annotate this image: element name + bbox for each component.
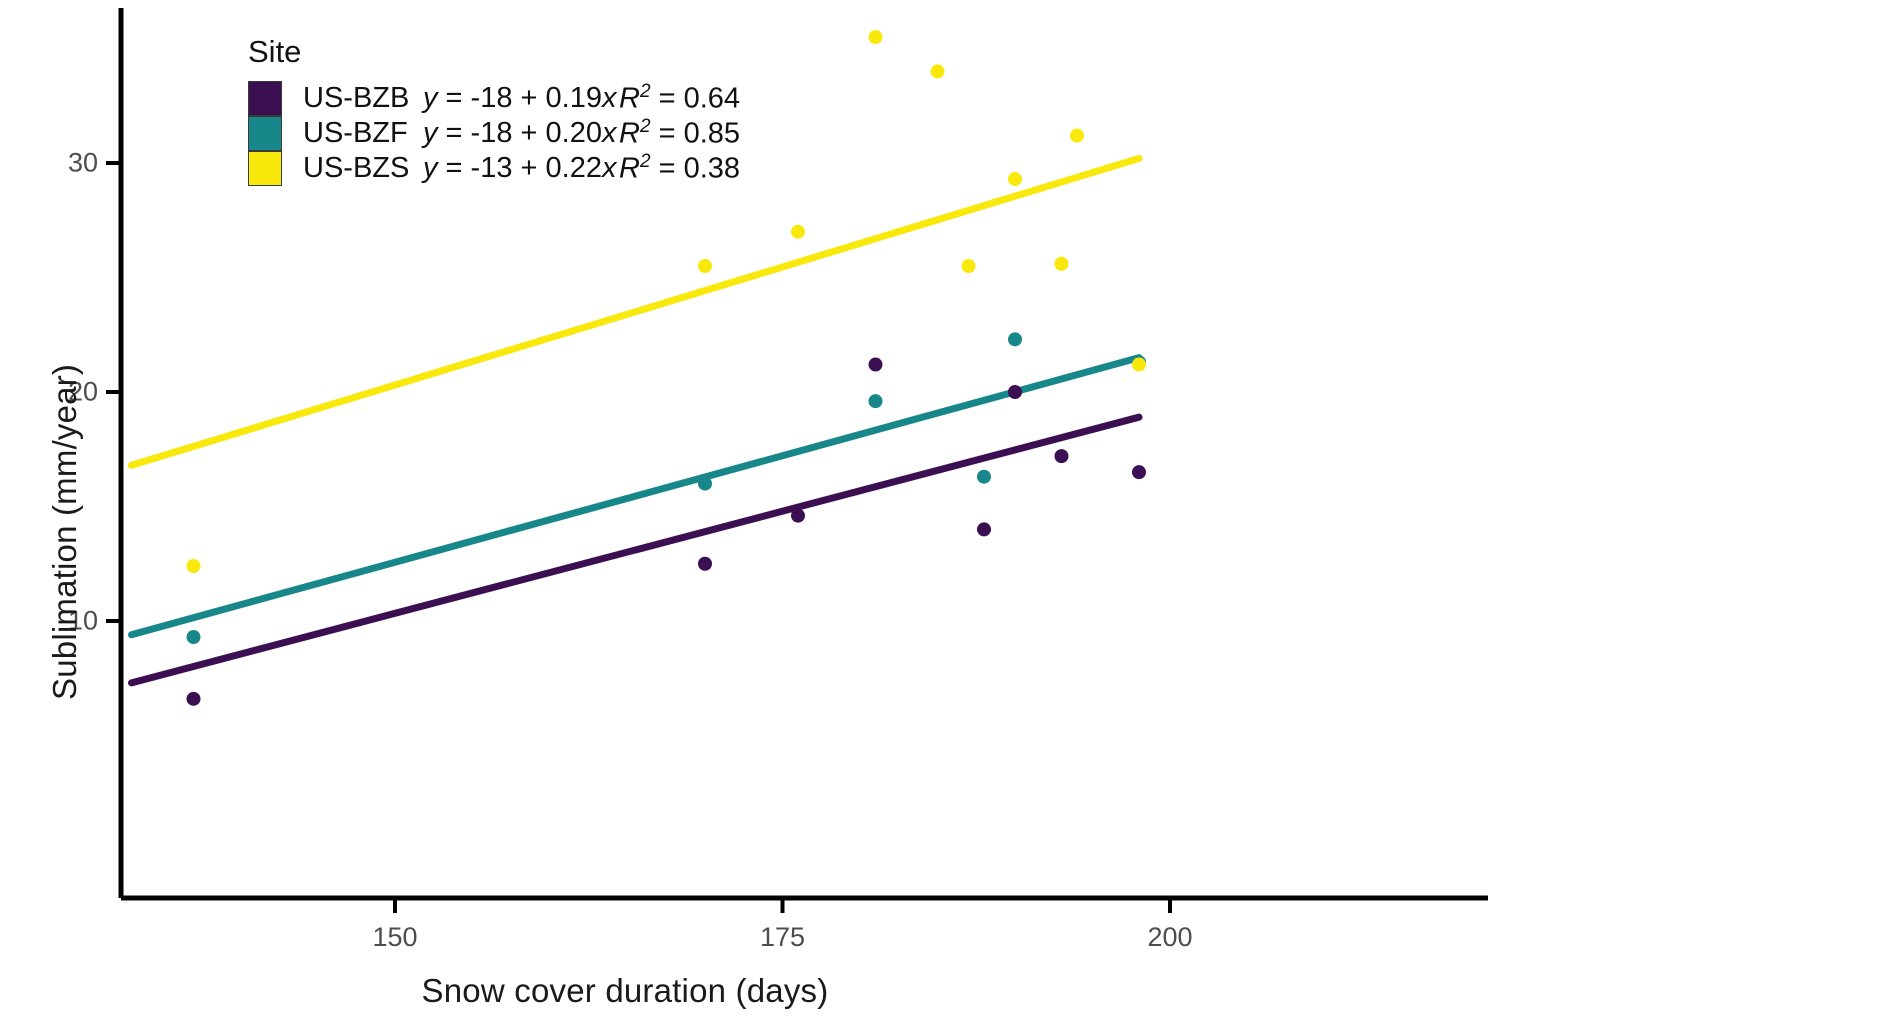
legend: Site US-BZBy = -18 + 0.19xR2 = 0.64US-BZ… bbox=[248, 34, 740, 186]
legend-row-us-bzf[interactable]: US-BZFy = -18 + 0.20xR2 = 0.85 bbox=[248, 116, 740, 151]
legend-series-label: US-BZB bbox=[303, 82, 423, 115]
data-point-us-bzs bbox=[1070, 129, 1084, 143]
y-axis-title: Sublimation (mm/year) bbox=[46, 0, 84, 700]
data-point-us-bzs bbox=[1055, 257, 1069, 271]
legend-swatch-icon bbox=[248, 116, 282, 151]
legend-rows: US-BZBy = -18 + 0.19xR2 = 0.64US-BZFy = … bbox=[248, 81, 740, 186]
data-point-us-bzb bbox=[698, 557, 712, 571]
legend-title: Site bbox=[248, 34, 740, 70]
legend-r-squared: R2 = 0.85 bbox=[619, 116, 740, 151]
data-point-us-bzf bbox=[977, 470, 991, 484]
data-point-us-bzs bbox=[698, 259, 712, 273]
data-point-us-bzf bbox=[187, 630, 201, 644]
x-tick-label: 150 bbox=[372, 922, 417, 953]
regression-line-us-bzf bbox=[132, 358, 1140, 635]
legend-r-squared: R2 = 0.38 bbox=[619, 151, 740, 186]
data-point-us-bzb bbox=[1132, 465, 1146, 479]
data-point-us-bzb bbox=[187, 692, 201, 706]
data-point-us-bzs bbox=[931, 64, 945, 78]
sublimation-vs-snow-cover-chart: 150175200102030 Snow cover duration (day… bbox=[0, 0, 1892, 1017]
data-point-us-bzs bbox=[1008, 172, 1022, 186]
data-point-us-bzf bbox=[698, 477, 712, 491]
x-tick-label: 200 bbox=[1147, 922, 1192, 953]
data-point-us-bzb bbox=[1008, 385, 1022, 399]
data-point-us-bzb bbox=[977, 522, 991, 536]
legend-equation: y = -18 + 0.19x bbox=[423, 82, 619, 115]
legend-row-us-bzs[interactable]: US-BZSy = -13 + 0.22xR2 = 0.38 bbox=[248, 151, 740, 186]
data-point-us-bzs bbox=[1132, 358, 1146, 372]
data-point-us-bzb bbox=[869, 358, 883, 372]
tick-marks bbox=[106, 163, 1170, 913]
x-tick-label: 175 bbox=[760, 922, 805, 953]
legend-swatch-icon bbox=[248, 81, 282, 116]
data-point-us-bzf bbox=[869, 394, 883, 408]
data-point-us-bzs bbox=[791, 225, 805, 239]
data-point-us-bzs bbox=[962, 259, 976, 273]
regression-lines bbox=[132, 158, 1140, 682]
data-point-us-bzs bbox=[869, 30, 883, 44]
x-axis-title: Snow cover duration (days) bbox=[0, 972, 1250, 1010]
data-point-us-bzf bbox=[1008, 332, 1022, 346]
legend-equation: y = -13 + 0.22x bbox=[423, 152, 619, 185]
regression-line-us-bzs bbox=[132, 158, 1140, 465]
legend-series-label: US-BZS bbox=[303, 152, 423, 185]
legend-row-us-bzb[interactable]: US-BZBy = -18 + 0.19xR2 = 0.64 bbox=[248, 81, 740, 116]
legend-swatch-icon bbox=[248, 151, 282, 186]
legend-series-label: US-BZF bbox=[303, 117, 423, 150]
data-point-us-bzb bbox=[791, 509, 805, 523]
legend-equation: y = -18 + 0.20x bbox=[423, 117, 619, 150]
data-point-us-bzb bbox=[1055, 449, 1069, 463]
legend-r-squared: R2 = 0.64 bbox=[619, 81, 740, 116]
data-point-us-bzs bbox=[187, 559, 201, 573]
regression-line-us-bzb bbox=[132, 417, 1140, 683]
